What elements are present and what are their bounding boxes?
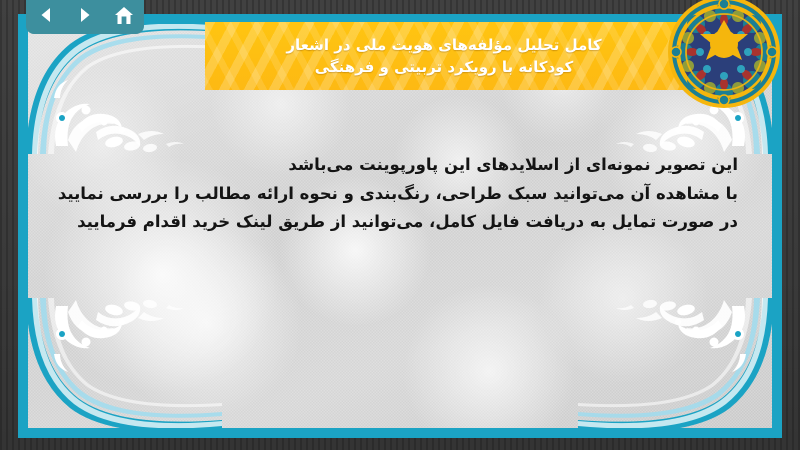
title-line: کودکانه با رویکرد تربیتی و فرهنگی [315,57,574,77]
slide-title-banner: کامل تحلیل مؤلفه‌های هویت ملی در اشعار ک… [205,22,745,90]
slide-body-line: این تصویر نمونه‌ای از اسلایدهای این پاور… [48,152,738,178]
triangle-right-icon [76,6,94,24]
navigation-bar [26,0,144,34]
triangle-left-icon [37,6,55,24]
slide-body-text: این تصویر نمونه‌ای از اسلایدهای این پاور… [48,152,738,238]
home-icon [114,6,134,25]
banner-title-body: کامل تحلیل مؤلفه‌های هویت ملی در اشعار ک… [205,22,683,90]
persian-medallion-icon [666,0,782,110]
slide-body-line: در صورت تمایل به دریافت فایل کامل، می‌تو… [48,209,738,235]
arabesque-corner-ornament-icon [578,298,772,428]
forward-button[interactable] [70,2,100,28]
home-button[interactable] [109,2,139,28]
title-line: کامل تحلیل مؤلفه‌های هویت ملی در اشعار [286,35,601,55]
arabesque-corner-ornament-icon [28,298,222,428]
slide-viewer: این تصویر نمونه‌ای از اسلایدهای این پاور… [0,0,800,450]
back-button[interactable] [31,2,61,28]
arabesque-corner-ornament-icon [28,24,222,154]
slide-body-line: با مشاهده آن می‌توانید سبک طراحی، رنگ‌بن… [48,181,738,207]
